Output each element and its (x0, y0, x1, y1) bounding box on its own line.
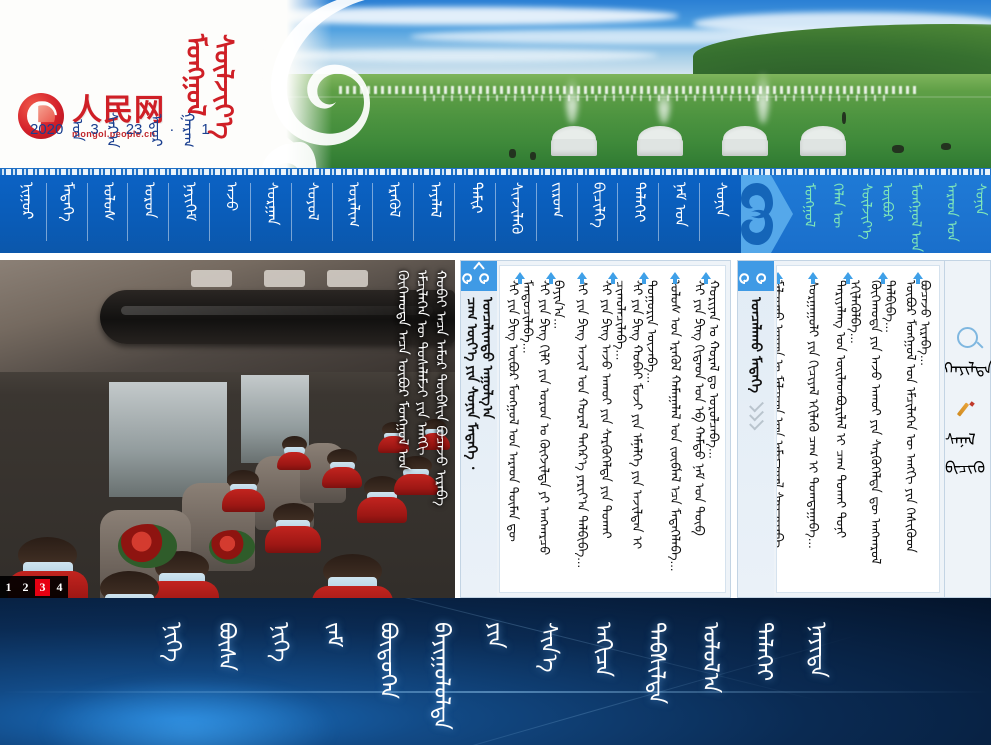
banner-figure (842, 112, 846, 124)
bus-window (109, 382, 227, 497)
nav-item-label: ᠰᠢᠨᠵᠢᠯᠡᠬᠦ (508, 182, 524, 234)
arrow-up-icon (878, 272, 888, 279)
arrow-up-icon (546, 272, 556, 279)
passenger (227, 470, 259, 507)
section-header-primary: ᠴᠠᠭ ᠦᠶ᠎ᠡ ᠶᠢᠨ ᠰᠣᠨᠢᠨ ᠮᠡᠳᠡᠭᠡ ᠂ ᠣᠨᠴᠠᠯᠢᠭᠲᠤ ᠠᠭ… (461, 261, 497, 597)
footer-word-0: ᠨᠢᠭᠡ (161, 622, 185, 662)
page-button-3[interactable]: 3 (35, 579, 50, 596)
date-line: 2020 ᠣᠨ 3 ᠰᠠᠷ᠎ᠠ 23 ᠡᠳᠦᠷ · ᠭᠠᠷᠠᠭ 1 (30, 112, 210, 148)
footer-word-8: ᠠᠬᠢᠴᠠ (591, 622, 615, 677)
banner-figure (941, 143, 951, 150)
news-item-title: ᠰᠤᠷᠭᠠᠭᠤᠯᠢ ᠶᠢᠨ ᠬᠢᠴᠢᠶᠡᠯ ᠡᠬᠢᠯᠡᠬᠦ ᠴᠠᠭ ᠢ ᠲᠣᠭᠲ… (805, 280, 820, 549)
tool-label: ᠰᠠᠨᠠᠯ ᠪᠢᠴᠢᠬᠦ (945, 422, 990, 478)
nav-swirl-arrow-icon (741, 175, 797, 253)
nav-side-item-5[interactable]: ᠠᠷᠠᠳ ᠤᠨ (934, 175, 970, 252)
cloud-swirl-ornament (238, 0, 418, 175)
nav-item-10[interactable]: ᠠᠶᠠᠯᠠᠯ (414, 175, 455, 253)
news-list-primary: ᠰᠢ ᠶᠢᠨ ᠫᠢᠩ ᠬᠢᠲᠠᠳ ᠤᠨ ᠡᠪ ᠬᠠᠮᠲᠤ ᠨᠠᠮ ᠤᠨ ᠲᠥᠪ … (499, 265, 726, 593)
nav-item-label: ᠤᠷᠠᠯᠢᠭ (345, 182, 361, 227)
nav-item-13[interactable]: ᠵᠢᠷᠤᠭ (537, 175, 578, 253)
side-tools: ᠬᠠᠶᠢᠯᠲᠠᠰᠠᠨᠠᠯ ᠪᠢᠴᠢᠬᠦ (945, 260, 991, 598)
flower-bouquet (209, 530, 254, 564)
news-item[interactable]: ᠬᠥᠬᠡᠬᠣᠲᠠ ᠶᠢᠨ ᠠᠵᠤ ᠠᠬᠤᠢ ᠶᠢᠨ ᠰᠡᠷᠭᠦᠭᠡᠯᠲᠡ ᠳᠦ … (865, 272, 900, 586)
nav-side-item-2[interactable]: ᠰᠦᠯᠵᠢᠶ᠎ᠡ (856, 175, 877, 252)
date-day: 23 (126, 121, 143, 138)
tool-label: ᠬᠠᠶᠢᠯᠲᠠ (943, 351, 991, 379)
news-item-title: ᠦᠪᠦᠷ ᠮᠣᠩᠭᠣᠯ ᠤᠨ ᠡᠮᠴᠢᠯᠡᠭᠡᠨ ᠦ ᠠᠩᠭᠢ ᠶᠢᠨ ᠭᠡᠰᠢ… (903, 280, 932, 572)
arrow-up-icon (701, 272, 711, 279)
nav-item-label: ᠠᠵᠤ (223, 182, 239, 211)
nav-item-label: ᠪᠢᠴᠢᠯᠭᠡ (590, 182, 606, 228)
news-item-title: ᠰᠢ ᠶᠢᠨ ᠫᠢᠩ ᠬᠢᠲᠠᠳ ᠤᠨ ᠡᠪ ᠬᠠᠮᠲᠤ ᠨᠠᠮ ᠤᠨ ᠲᠥᠪ … (691, 280, 720, 572)
nav-item-label: ᠲᠠᠮᠢᠷ (468, 182, 484, 214)
nav-side-item-label: ᠮᠣᠩᠭᠣᠯ (802, 183, 817, 227)
banner-sheep-flock (339, 86, 920, 94)
arrow-up-icon (639, 272, 649, 279)
news-item[interactable]: ᠰᠢ ᠶᠢᠨ ᠫᠢᠩ ᠬᠤᠪᠡᠢ ᠮᠤᠵᠢ ᠶᠢᠨ ᠡᠮᠨᠡᠯᠭᠡ ᠶᠢᠨ ᠠᠵ… (628, 272, 659, 586)
page-button-2[interactable]: 2 (18, 579, 33, 596)
news-list-secondary: ᠦᠪᠦᠷ ᠮᠣᠩᠭᠣᠯ ᠤᠨ ᠡᠮᠴᠢᠯᠡᠭᠡᠨ ᠦ ᠠᠩᠭᠢ ᠶᠢᠨ ᠭᠡᠰᠢ… (776, 265, 940, 593)
banner-yurt (722, 126, 768, 156)
date-weekday-number: 1 (201, 121, 209, 138)
nav-item-16[interactable]: ᠨᠠᠮ ᠤᠨ (659, 175, 700, 253)
footer-word-5: ᠪᠠᠶᠢᠭᠤᠯᠤᠯᠲᠠ (430, 622, 454, 730)
footer-word-11: ᠳᠡᠯᠡᠬᠡᠢ (752, 622, 776, 681)
nav-item-label: ᠰᠤᠷᠭᠠᠨ (264, 182, 280, 225)
photo-pagination[interactable]: 1234 (0, 576, 68, 598)
banner-figure (530, 152, 536, 160)
flower-bouquet (118, 524, 177, 568)
footer-word-2: ᠨᠢᠭᠡ (269, 622, 293, 662)
nav-item-label: ᠨᠡᠶᠢᠭᠡᠮ (182, 182, 198, 221)
news-item-title: ᠰᠢ ᠶᠢᠨ ᠫᠢᠩ ᠠᠵᠤ ᠠᠬᠤᠢ ᠶᠢᠨ ᠰᠡᠷᠭᠦᠭᠡᠯᠲᠡ ᠶᠢᠨ ᠲ… (598, 280, 627, 572)
footer-word-4: ᠪᠦᠲᠦᠭᠡᠨ (376, 622, 400, 699)
nav-primary-items: ᠨᠢᠭᠤᠷᠮᠡᠳᠡᠭᠡᠤᠯᠤᠰᠣᠷᠣᠨᠨᠡᠶᠢᠭᠡᠮᠠᠵᠤᠰᠤᠷᠭᠠᠨᠰᠤᠶᠤᠯ… (0, 175, 741, 253)
nav-item-12[interactable]: ᠰᠢᠨᠵᠢᠯᠡᠬᠦ (496, 175, 537, 253)
tool-pencil[interactable]: ᠰᠠᠨᠠᠯ ᠪᠢᠴᠢᠬᠦ (945, 401, 990, 478)
footer-word-10: ᠣᠯᠤᠯ᠎ᠠ (699, 622, 723, 693)
main-navigation: ᠨᠢᠭᠤᠷᠮᠡᠳᠡᠭᠡᠤᠯᠤᠰᠣᠷᠣᠨᠨᠡᠶᠢᠭᠡᠮᠠᠵᠤᠰᠤᠷᠭᠠᠨᠰᠤᠶᠤᠯ… (0, 175, 991, 253)
photo-caption: ᠬᠥᠬᠡᠬᠣᠲᠠ ᠠᠴᠠ ᠦᠪᠦᠷ ᠮᠣᠩᠭᠣᠯ ᠤᠨᠡᠮᠴᠢᠯᠡᠭᠡᠨ ᠦ ᠲ… (395, 270, 448, 580)
nav-item-label: ᠡᠷᠡᠭᠦᠯ (386, 182, 402, 217)
page-button-1[interactable]: 1 (1, 579, 16, 596)
nav-item-9[interactable]: ᠡᠷᠡᠭᠦᠯ (373, 175, 414, 253)
news-item[interactable]: ᠤᠯᠤᠰ ᠤᠨ ᠡᠷᠡᠭᠦᠯ ᠬᠠᠮᠠᠭᠠᠯᠠᠯ ᠤᠨ ᠵᠥᠪᠯᠡᠯ ᠡᠴᠡ ᠮ… (659, 272, 690, 586)
nav-item-8[interactable]: ᠤᠷᠠᠯᠢᠭ (333, 175, 374, 253)
date-weekday-unit: ᠭᠠᠷᠠᠭ (180, 112, 195, 148)
footer-word-3: ᠵᠠᠮ (322, 622, 346, 648)
news-item[interactable]: ᠰᠢ ᠶᠢᠨ ᠫᠢᠩ ᠠᠵᠢᠯ ᠤᠨ ᠬᠤᠷᠠᠯ ᠳᠡᠭᠡᠷ᠎ᠡ ᠶᠠᠷᠢᠶ᠎ᠠ… (566, 272, 597, 586)
nav-item-label: ᠵᠢᠷᠤᠭ (549, 182, 565, 218)
arrow-up-icon (843, 272, 853, 279)
date-month-unit: ᠰᠠᠷ᠎ᠠ (105, 112, 120, 148)
nav-item-7[interactable]: ᠰᠤᠶᠤᠯ (292, 175, 333, 253)
main-content: ᠬᠥᠬᠡᠬᠣᠲᠠ ᠠᠴᠠ ᠦᠪᠦᠷ ᠮᠣᠩᠭᠣᠯ ᠤᠨᠡᠮᠴᠢᠯᠡᠭᠡᠨ ᠦ ᠲ… (0, 253, 991, 598)
news-item-title: ᠰᠢ ᠶᠢᠨ ᠫᠢᠩ ᠠᠵᠢᠯ ᠤᠨ ᠬᠤᠷᠠᠯ ᠳᠡᠭᠡᠷ᠎ᠡ ᠶᠠᠷᠢᠶ᠎ᠠ… (575, 280, 590, 568)
arrow-up-icon (670, 272, 680, 279)
section-cloud-ornament (738, 261, 774, 291)
logo-mn-word-2: ᠰᠦᠯᠵᠢᠶ᠎ᠡ (211, 34, 237, 139)
news-item[interactable]: ᠰᠢ ᠶᠢᠨ ᠫᠢᠩ ᠬᠢᠯᠢ ᠶᠢᠨ ᠣᠷᠣᠨ ᠤ ᠬᠥᠭᠵᠢᠯᠲᠡ ᠶᠢ ᠠ… (535, 272, 566, 586)
nav-side-item-label: ᠬᠡᠯᠡᠨ ᠦ (831, 183, 846, 228)
passenger (100, 571, 159, 598)
nav-secondary-items: ᠮᠣᠩᠭᠣᠯᠬᠡᠯᠡᠨ ᠦᠰᠦᠯᠵᠢᠶ᠎ᠡᠦᠪᠦᠷᠮᠣᠩᠭᠣᠯ ᠤᠨᠠᠷᠠᠳ ᠤ… (799, 175, 991, 252)
news-column-primary: ᠴᠠᠭ ᠦᠶ᠎ᠡ ᠶᠢᠨ ᠰᠣᠨᠢᠨ ᠮᠡᠳᠡᠭᠡ ᠂ ᠣᠨᠴᠠᠯᠢᠭᠲᠤ ᠠᠭ… (460, 260, 731, 598)
date-month: 3 (90, 121, 98, 138)
nav-item-label: ᠮᠡᠳᠡᠭᠡ (59, 182, 75, 222)
nav-item-label: ᠨᠢᠭᠤᠷ (19, 182, 35, 219)
date-day-unit: ᠡᠳᠦᠷ (148, 114, 163, 147)
caption-line-1: ᠡᠮᠴᠢᠯᠡᠭᠡᠨ ᠦ ᠲᠤᠰᠠᠯᠠᠮᠵᠢ ᠶᠢᠨ ᠠᠩᠭᠢ (415, 270, 430, 580)
banner-smoke (658, 84, 670, 124)
nav-side-item-label: ᠰᠣᠨᠢᠨ (973, 183, 988, 216)
footer-text: ᠨᠢᠭᠡᠪᠦᠰᠡᠨᠢᠭᠡᠵᠠᠮᠪᠦᠲᠦᠭᠡᠨᠪᠠᠶᠢᠭᠤᠯᠤᠯᠲᠠᠶᠢᠨᠰᠢᠨ᠎… (0, 622, 991, 730)
nav-item-17[interactable]: ᠰᠤᠨᠢᠨ (700, 175, 741, 253)
page-button-4[interactable]: 4 (52, 579, 67, 596)
nav-item-label: ᠰᠤᠶᠤᠯ (304, 182, 320, 221)
photo-bus-interior (0, 260, 455, 598)
news-item[interactable]: ᠮᠠᠯᠵᠢᠬᠤ ᠣᠷᠣᠨ ᠤ ᠮᠠᠯᠴᠢᠳ ᠤᠨ ᠠᠮᠢᠳᠤᠷᠠᠯ ᠰᠠᠶᠢᠵᠢ… (776, 272, 795, 586)
nav-item-14[interactable]: ᠪᠢᠴᠢᠯᠭᠡ (578, 175, 619, 253)
section-cloud-ornament (461, 261, 497, 291)
news-item-title: ᠲᠠᠷᠢᠶᠠᠯᠠᠩ ᠤᠨ ᠦᠢᠯᠡᠳᠪᠦᠷᠢᠯᠡᠯ ᠢ ᠴᠠᠭ ᠲᠤᠬᠠᠢ ᠳᠤ… (833, 280, 862, 572)
bus-ceiling-light (327, 270, 368, 287)
footer-word-7: ᠰᠢᠨ᠎ᠡ (537, 622, 561, 672)
tool-search[interactable]: ᠬᠠᠶᠢᠯᠲᠠ (943, 327, 991, 379)
banner-yurt (551, 126, 597, 156)
banner-yurt (637, 126, 683, 156)
news-item[interactable]: ᠲᠠᠷᠢᠶᠠᠯᠠᠩ ᠤᠨ ᠦᠢᠯᠡᠳᠪᠦᠷᠢᠯᠡᠯ ᠢ ᠴᠠᠭ ᠲᠤᠬᠠᠢ ᠳᠤ… (830, 272, 865, 586)
nav-secondary-panel: ᠮᠣᠩᠭᠣᠯᠬᠡᠯᠡᠨ ᠦᠰᠦᠯᠵᠢᠶ᠎ᠡᠦᠪᠦᠷᠮᠣᠩᠭᠣᠯ ᠤᠨᠠᠷᠠᠳ ᠤ… (741, 175, 991, 253)
nav-item-0[interactable]: ᠨᠢᠭᠤᠷ (6, 175, 47, 253)
nav-side-item-4[interactable]: ᠮᠣᠩᠭᠣᠯ ᠤᠨ (898, 175, 934, 252)
news-item[interactable]: ᠦᠪᠦᠷ ᠮᠣᠩᠭᠣᠯ ᠤᠨ ᠡᠮᠴᠢᠯᠡᠭᠡᠨ ᠦ ᠠᠩᠭᠢ ᠶᠢᠨ ᠭᠡᠰᠢ… (900, 272, 935, 586)
news-item-title: ᠰᠢ ᠶᠢᠨ ᠫᠢᠩ ᠬᠢᠯᠢ ᠶᠢᠨ ᠣᠷᠣᠨ ᠤ ᠬᠥᠭᠵᠢᠯᠲᠡ ᠶᠢ ᠠ… (536, 280, 565, 572)
nav-item-label: ᠰᠤᠨᠢᠨ (713, 182, 729, 217)
banner-smoke (757, 70, 769, 124)
arrow-up-icon (515, 272, 525, 279)
nav-item-label: ᠳᠡᠯᠡᠬᠡᠢ (631, 182, 647, 222)
nav-item-6[interactable]: ᠰᠤᠷᠭᠠᠨ (251, 175, 292, 253)
nav-side-item-label: ᠠᠷᠠᠳ ᠤᠨ (945, 183, 960, 242)
section-title-primary: ᠴᠠᠭ ᠦᠶ᠎ᠡ ᠶᠢᠨ ᠰᠣᠨᠢᠨ ᠮᠡᠳᠡᠭᠡ ᠂ ᠣᠨᠴᠠᠯᠢᠭᠲᠤ ᠠᠭ… (464, 297, 495, 512)
caption-line-0: ᠬᠥᠬᠡᠬᠣᠲᠠ ᠠᠴᠠ ᠦᠪᠦᠷ ᠮᠣᠩᠭᠣᠯ ᠤᠨ (395, 270, 410, 580)
banner-yurt (800, 126, 846, 156)
nav-item-3[interactable]: ᠣᠷᠣᠨ (128, 175, 169, 253)
nav-side-item-1[interactable]: ᠬᠡᠯᠡᠨ ᠦ (820, 175, 856, 252)
nav-side-item-0[interactable]: ᠮᠣᠩᠭᠣᠯ (799, 175, 820, 252)
nav-side-item-label: ᠰᠦᠯᠵᠢᠶ᠎ᠡ (859, 183, 874, 240)
news-item[interactable]: ᠰᠢ ᠶᠢᠨ ᠫᠢᠩ ᠦᠪᠦᠷ ᠮᠣᠩᠭᠣᠯ ᠤᠨ ᠠᠷᠠᠳ ᠲᠦᠮᠡᠨ ᠳᠦ … (504, 272, 535, 586)
nav-item-15[interactable]: ᠳᠡᠯᠡᠬᠡᠢ (618, 175, 659, 253)
arrow-up-icon (577, 272, 587, 279)
news-item-title: ᠰᠢ ᠶᠢᠨ ᠫᠢᠩ ᠦᠪᠦᠷ ᠮᠣᠩᠭᠣᠯ ᠤᠨ ᠠᠷᠠᠳ ᠲᠦᠮᠡᠨ ᠳᠦ … (505, 280, 534, 572)
arrow-up-icon (808, 272, 818, 279)
header-greek-key-border (0, 168, 991, 175)
banner-figure (892, 145, 904, 153)
banner-smoke (566, 76, 578, 124)
nav-side-item-3[interactable]: ᠦᠪᠦᠷ (877, 175, 898, 252)
nav-item-label: ᠨᠠᠮ ᠤᠨ (672, 182, 688, 227)
news-item[interactable]: ᠰᠢ ᠶᠢᠨ ᠫᠢᠩ ᠬᠢᠲᠠᠳ ᠤᠨ ᠡᠪ ᠬᠠᠮᠲᠤ ᠨᠠᠮ ᠤᠨ ᠲᠥᠪ … (690, 272, 721, 586)
section-header-secondary: ᠣᠨᠴᠠᠯᠠᠬᠤ ᠮᠡᠳᠡᠭᠡ (738, 261, 774, 597)
arrow-up-icon (776, 272, 783, 279)
passenger (273, 503, 314, 547)
footer-banner[interactable]: ᠨᠢᠭᠡᠪᠦᠰᠡᠨᠢᠭᠡᠵᠠᠮᠪᠦᠲᠦᠭᠡᠨᠪᠠᠶᠢᠭᠤᠯᠤᠯᠲᠠᠶᠢᠨᠰᠢᠨ᠎… (0, 598, 991, 745)
nav-item-11[interactable]: ᠲᠠᠮᠢᠷ (455, 175, 496, 253)
feature-photo-block[interactable]: ᠬᠥᠬᠡᠬᠣᠲᠠ ᠠᠴᠠ ᠦᠪᠦᠷ ᠮᠣᠩᠭᠣᠯ ᠤᠨᠡᠮᠴᠢᠯᠡᠭᠡᠨ ᠦ ᠲ… (0, 260, 455, 598)
footer-word-1: ᠪᠦᠰᠡ (215, 622, 239, 671)
search-icon (957, 327, 978, 348)
bus-ceiling-light (191, 270, 232, 287)
nav-side-item-label: ᠮᠣᠩᠭᠣᠯ ᠤᠨ (909, 183, 924, 252)
footer-word-6: ᠶᠢᠨ (484, 622, 508, 649)
nav-side-item-label: ᠦᠪᠦᠷ (880, 183, 895, 221)
nav-item-label: ᠤᠯᠤᠰ (100, 182, 116, 221)
date-year-unit: ᠣᠨ (69, 119, 84, 141)
pencil-icon (959, 401, 977, 419)
nav-side-item-6[interactable]: ᠰᠣᠨᠢᠨ (970, 175, 991, 252)
footer-word-12: ᠨᠡᠶᠢᠲᠡ (806, 622, 830, 678)
date-year: 2020 (30, 121, 63, 138)
news-item-title: ᠰᠢ ᠶᠢᠨ ᠫᠢᠩ ᠬᠤᠪᠡᠢ ᠮᠤᠵᠢ ᠶᠢᠨ ᠡᠮᠨᠡᠯᠭᠡ ᠶᠢᠨ ᠠᠵ… (629, 280, 658, 572)
nav-item-2[interactable]: ᠤᠯᠤᠰ (88, 175, 129, 253)
nav-item-4[interactable]: ᠨᠡᠶᠢᠭᠡᠮ (169, 175, 210, 253)
passenger (282, 436, 307, 466)
nav-item-5[interactable]: ᠠᠵᠤ (210, 175, 251, 253)
date-separator: · (169, 121, 174, 138)
nav-item-label: ᠠᠶᠠᠯᠠᠯ (427, 182, 443, 218)
news-item-title: ᠤᠯᠤᠰ ᠤᠨ ᠡᠷᠡᠭᠦᠯ ᠬᠠᠮᠠᠭᠠᠯᠠᠯ ᠤᠨ ᠵᠥᠪᠯᠡᠯ ᠡᠴᠡ ᠮ… (668, 280, 683, 572)
banner-figure (509, 149, 516, 158)
more-chevrons-icon[interactable] (750, 401, 763, 427)
news-item-title: ᠬᠥᠬᠡᠬᠣᠲᠠ ᠶᠢᠨ ᠠᠵᠤ ᠠᠬᠤᠢ ᠶᠢᠨ ᠰᠡᠷᠭᠦᠭᠡᠯᠲᠡ ᠳᠦ … (868, 280, 897, 572)
nav-item-label: ᠣᠷᠣᠨ (141, 182, 157, 218)
footer-word-9: ᠲᠠᠪᠰᠢᠯᠲᠠ (645, 622, 669, 704)
section-title-secondary: ᠣᠨᠴᠠᠯᠠᠬᠤ ᠮᠡᠳᠡᠭᠡ (748, 297, 763, 393)
page-root: 人民网 mongol.people.cn ᠮᠣᠩᠭᠣᠯ ᠰᠦᠯᠵᠢᠶ᠎ᠡ 202… (0, 0, 991, 752)
site-header: 人民网 mongol.people.cn ᠮᠣᠩᠭᠣᠯ ᠰᠦᠯᠵᠢᠶ᠎ᠡ 202… (0, 0, 991, 175)
news-item[interactable]: ᠰᠤᠷᠭᠠᠭᠤᠯᠢ ᠶᠢᠨ ᠬᠢᠴᠢᠶᠡᠯ ᠡᠬᠢᠯᠡᠬᠦ ᠴᠠᠭ ᠢ ᠲᠣᠭᠲ… (795, 272, 830, 586)
news-item[interactable]: ᠰᠢ ᠶᠢᠨ ᠫᠢᠩ ᠠᠵᠤ ᠠᠬᠤᠢ ᠶᠢᠨ ᠰᠡᠷᠭᠦᠭᠡᠯᠲᠡ ᠶᠢᠨ ᠲ… (597, 272, 628, 586)
caption-line-2: ᠬᠤᠪᠡᠢ ᠠᠴᠠ ᠠᠮᠤᠷ ᠲᠦᠪᠰᠢᠨ ᠪᠤᠴᠠᠵᠤ ᠢᠷᠡᠪᠡ (434, 270, 449, 580)
arrow-up-icon (608, 272, 618, 279)
arrow-up-icon (913, 272, 923, 279)
news-item-title: ᠮᠠᠯᠵᠢᠬᠤ ᠣᠷᠣᠨ ᠤ ᠮᠠᠯᠴᠢᠳ ᠤᠨ ᠠᠮᠢᠳᠤᠷᠠᠯ ᠰᠠᠶᠢᠵᠢ… (776, 280, 785, 559)
nav-item-1[interactable]: ᠮᠡᠳᠡᠭᠡ (47, 175, 88, 253)
bus-ceiling-light (264, 270, 305, 287)
passenger (327, 449, 357, 483)
news-column-secondary: ᠣᠨᠴᠠᠯᠠᠬᠤ ᠮᠡᠳᠡᠭᠡ ᠦᠪᠦᠷ ᠮᠣᠩᠭᠣᠯ ᠤᠨ ᠡᠮᠴᠢᠯᠡᠭᠡᠨ… (737, 260, 945, 598)
passenger (323, 554, 382, 598)
